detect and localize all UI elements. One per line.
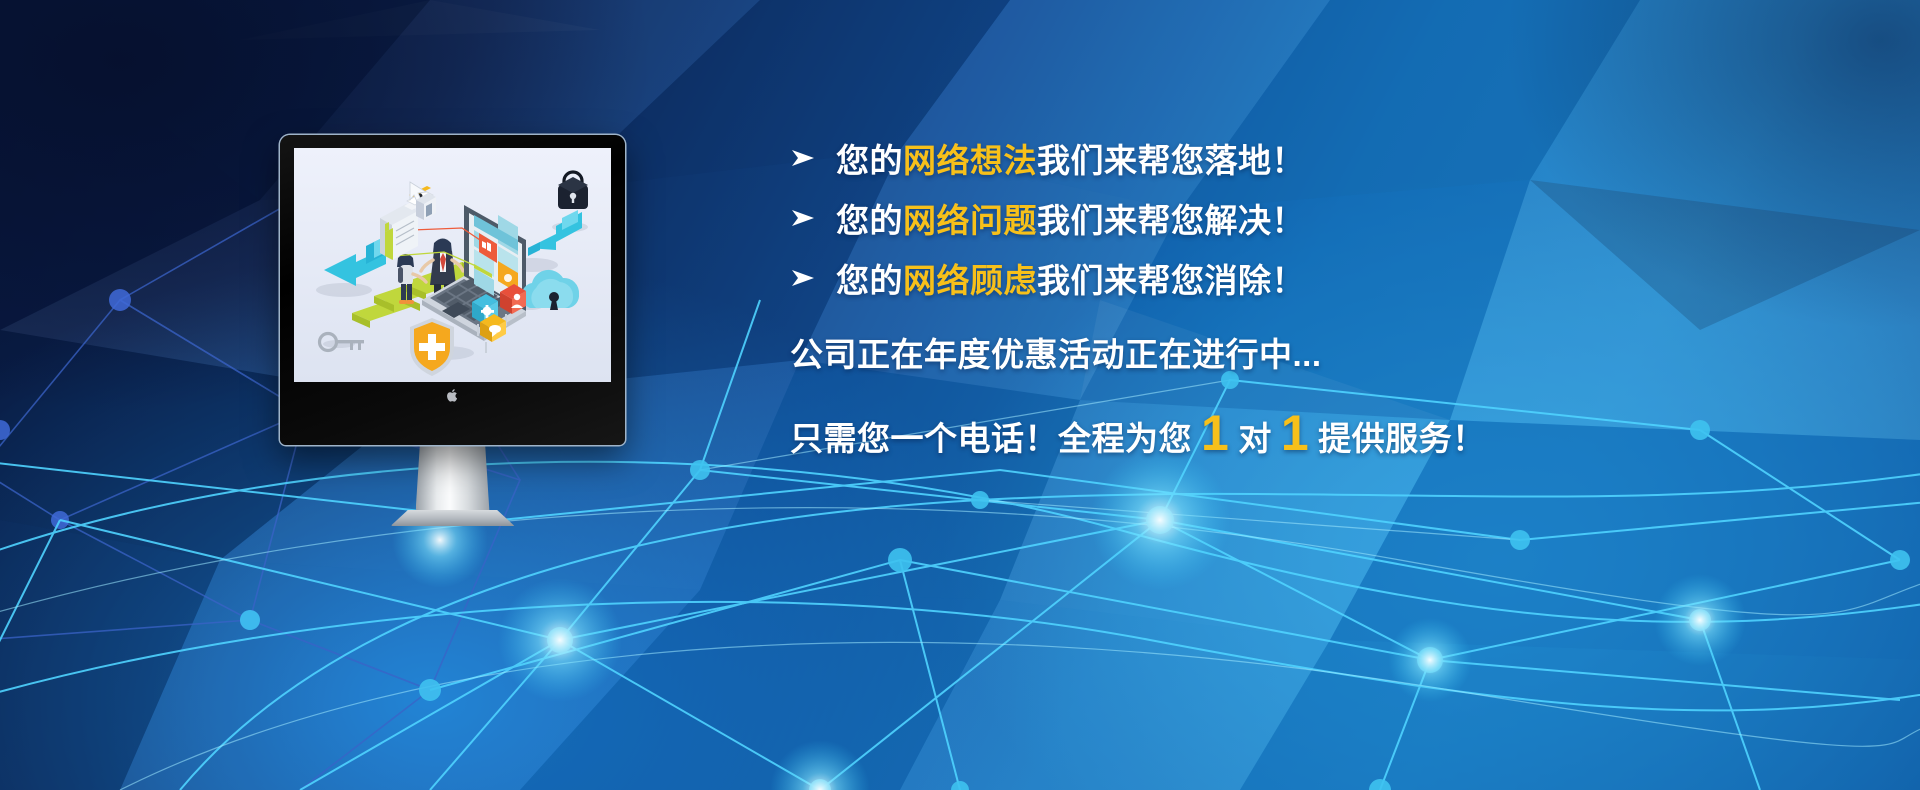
bullet-prefix-2: 您的 <box>836 202 903 239</box>
callout-number-first: 1 <box>1192 408 1238 458</box>
bullet-suffix-3: 我们来帮您消除！ <box>1037 262 1305 299</box>
bullet-highlight-3: 网络顾虑 <box>903 262 1037 299</box>
banner-copy: 您的网络想法我们来帮您落地！ 您的网络问题我们来帮您解决！ 您的网络顾虑我们来帮… <box>790 128 1840 460</box>
promo-line: 公司正在年度优惠活动正在进行中... <box>790 328 1840 376</box>
monitor-bezel <box>280 135 625 445</box>
imac-monitor-illustration <box>280 135 625 445</box>
bullet-prefix-3: 您的 <box>836 262 903 299</box>
callout-line: 只需您一个电话！全程为您 1 对 1 提供服务！ <box>790 408 1840 460</box>
bullet-highlight-2: 网络问题 <box>903 202 1037 239</box>
bullet-text-3: 您的网络顾虑我们来帮您消除！ <box>836 254 1305 302</box>
callout-lead: 只需您一个电话！全程为您 <box>790 412 1192 460</box>
promo-banner: 您的网络想法我们来帮您落地！ 您的网络问题我们来帮您解决！ 您的网络顾虑我们来帮… <box>0 0 1920 790</box>
monitor-stand-base <box>391 510 515 526</box>
callout-middle: 对 <box>1238 412 1272 460</box>
apple-logo-icon <box>446 388 459 403</box>
callout-number-second: 1 <box>1272 408 1318 458</box>
bullet-prefix-1: 您的 <box>836 142 903 179</box>
bullet-text-1: 您的网络想法我们来帮您落地！ <box>836 134 1305 182</box>
bullet-suffix-1: 我们来帮您落地！ <box>1037 142 1305 179</box>
arrow-right-triangle-icon <box>790 269 836 287</box>
bullet-item-1: 您的网络想法我们来帮您落地！ <box>790 128 1840 188</box>
bullet-text-2: 您的网络问题我们来帮您解决！ <box>836 194 1305 242</box>
bullet-item-2: 您的网络问题我们来帮您解决！ <box>790 188 1840 248</box>
monitor-stand-neck <box>416 443 490 513</box>
callout-tail: 提供服务！ <box>1318 412 1486 460</box>
bullet-suffix-2: 我们来帮您解决！ <box>1037 202 1305 239</box>
monitor-screen <box>294 148 611 382</box>
bullet-highlight-1: 网络想法 <box>903 142 1037 179</box>
arrow-right-triangle-icon <box>790 149 836 167</box>
arrow-right-triangle-icon <box>790 209 836 227</box>
bullet-item-3: 您的网络顾虑我们来帮您消除！ <box>790 248 1840 308</box>
